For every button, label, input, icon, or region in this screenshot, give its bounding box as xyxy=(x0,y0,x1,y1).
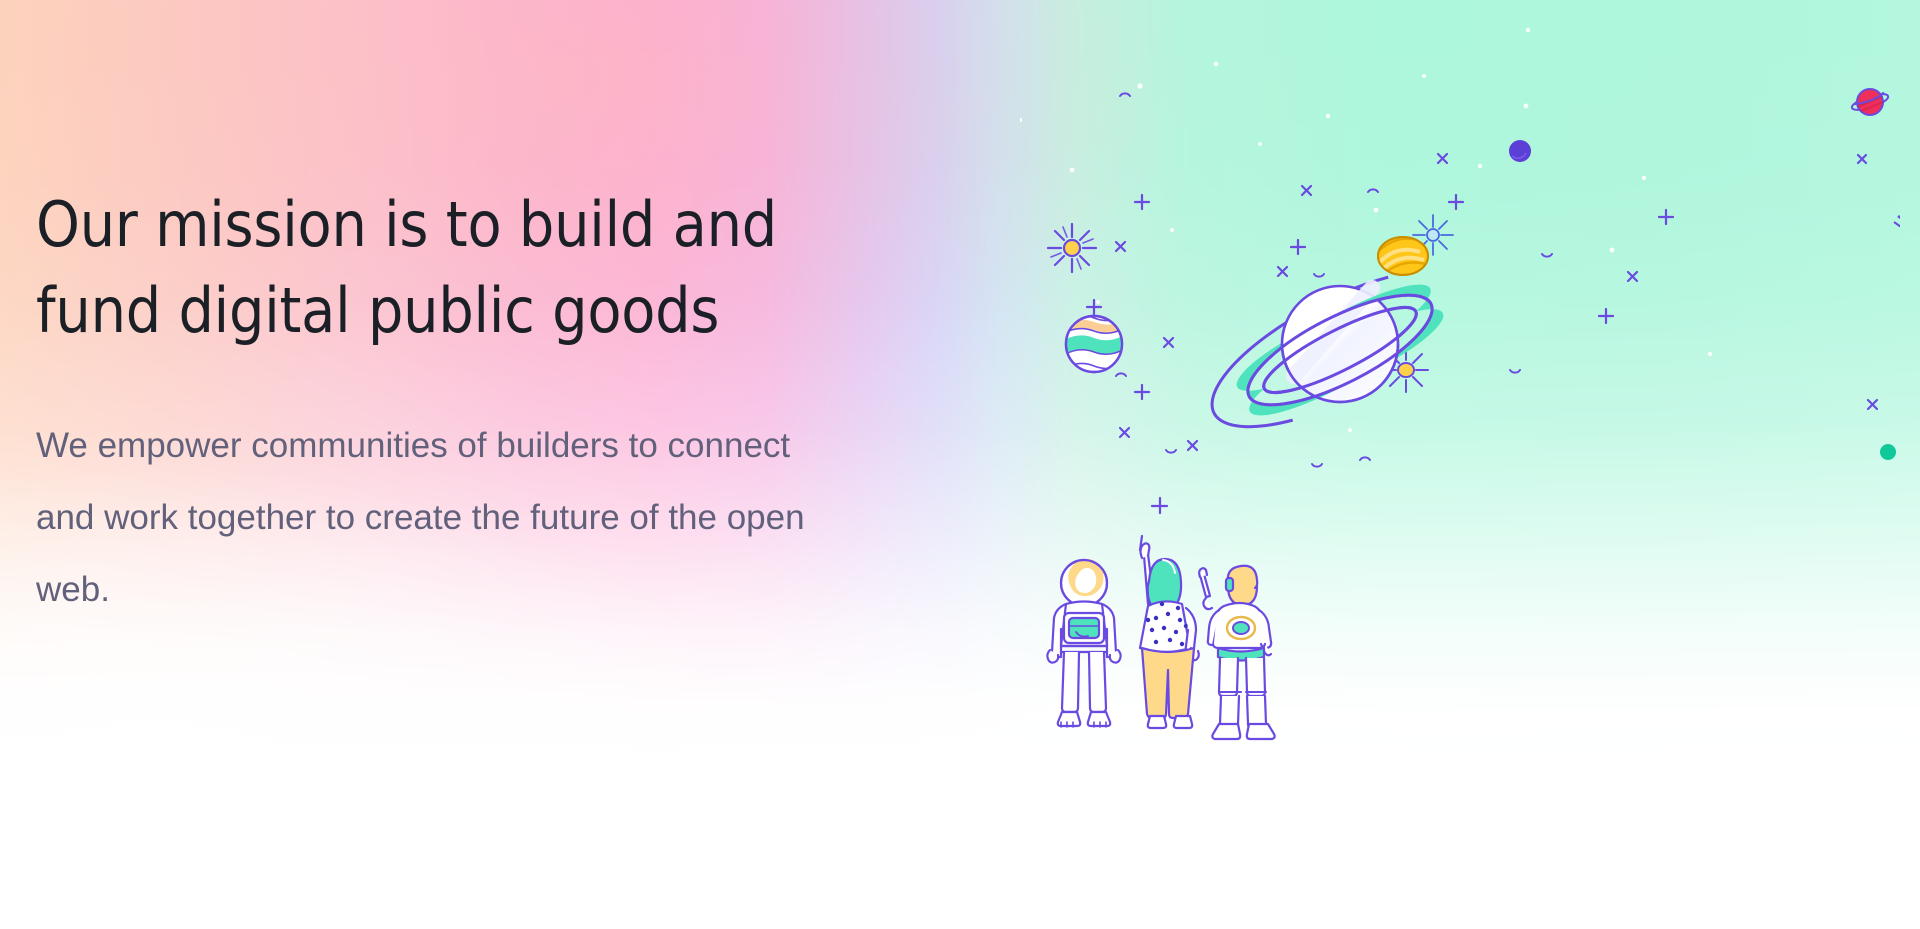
mission-description: We empower communities of builders to co… xyxy=(36,410,826,626)
mission-hero-section: Our mission is to build and fund digital… xyxy=(0,0,1920,929)
mission-copy-block: Our mission is to build and fund digital… xyxy=(36,182,856,626)
page-title: Our mission is to build and fund digital… xyxy=(36,182,836,354)
